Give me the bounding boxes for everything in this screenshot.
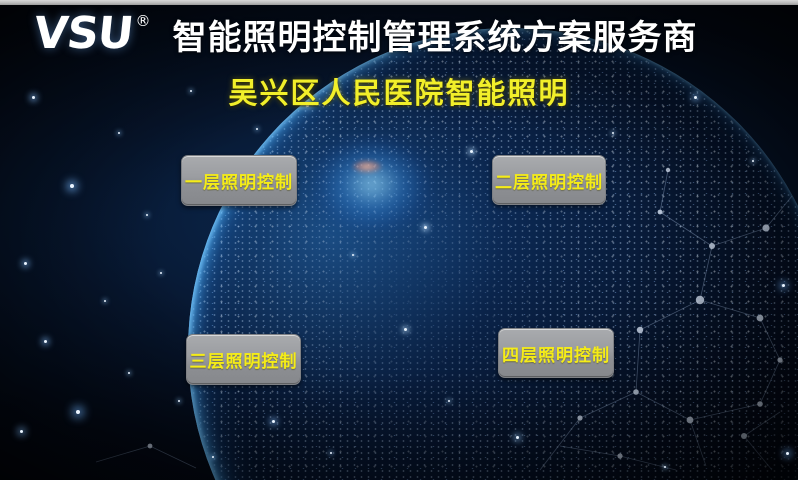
logo-wordmark: VSU: [32, 12, 135, 56]
floor-3-lighting-control-button[interactable]: 三层照明控制: [186, 334, 301, 385]
header-bar: VSU ® 智能照明控制管理系统方案服务商: [0, 5, 798, 63]
floor-4-lighting-control-button[interactable]: 四层照明控制: [498, 328, 614, 378]
project-subtitle: 吴兴区人民医院智能照明: [0, 70, 798, 112]
floor-1-lighting-control-button[interactable]: 一层照明控制: [181, 155, 297, 206]
app-window: VSU ® 智能照明控制管理系统方案服务商 吴兴区人民医院智能照明 一层照明控制…: [0, 0, 798, 480]
page-title: 智能照明控制管理系统方案服务商: [172, 10, 697, 59]
registered-trademark-icon: ®: [135, 14, 150, 29]
floor-2-lighting-control-button[interactable]: 二层照明控制: [492, 155, 606, 205]
vsu-logo: VSU ®: [34, 12, 150, 56]
